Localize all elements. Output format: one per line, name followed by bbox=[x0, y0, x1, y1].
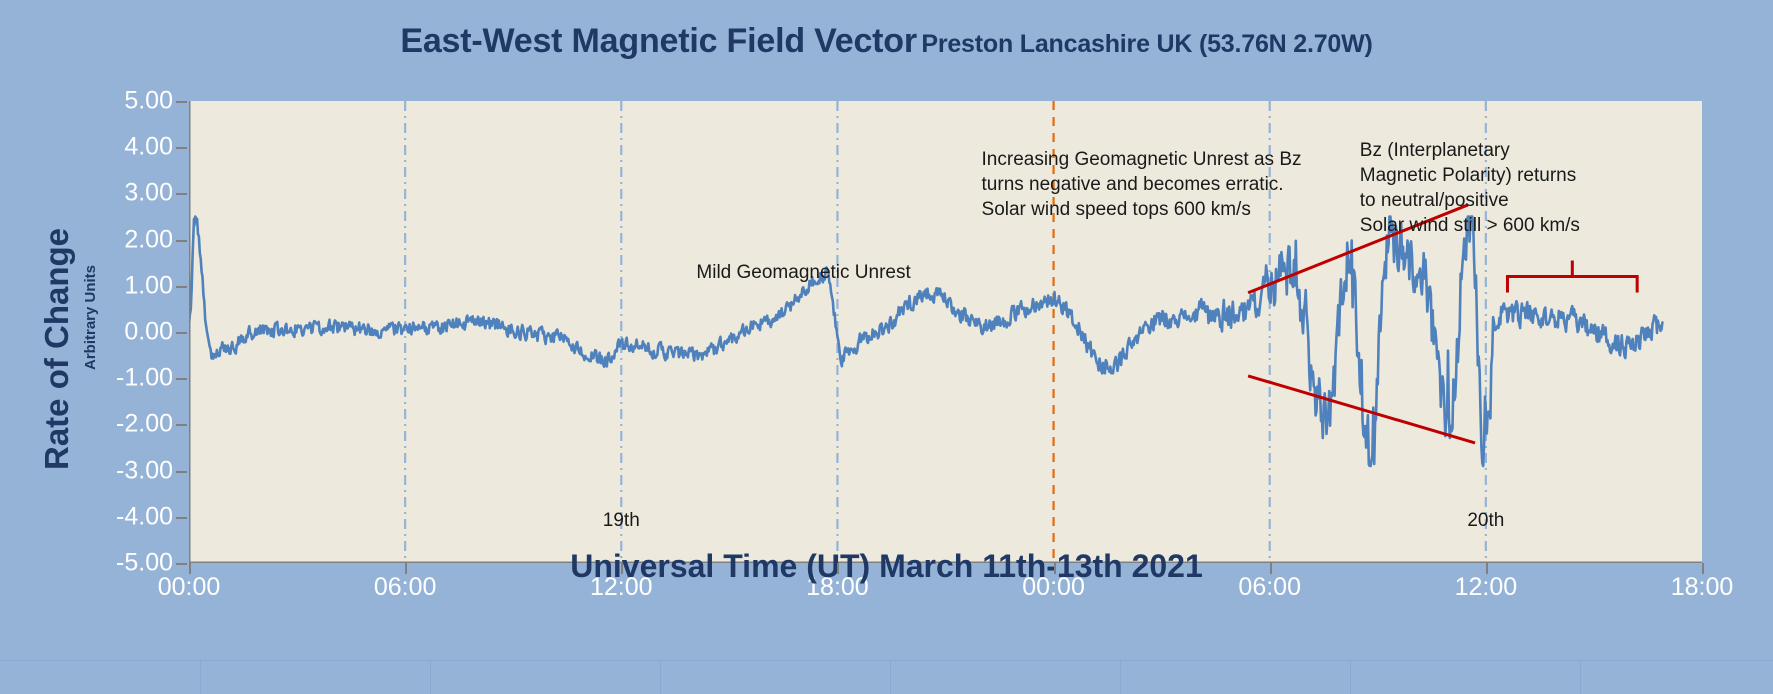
x-axis-tick-mark bbox=[1486, 563, 1488, 574]
worksheet-gridline bbox=[890, 660, 891, 694]
y-axis-tick-mark bbox=[176, 471, 187, 473]
worksheet-gridline bbox=[200, 660, 201, 694]
y-axis-tick-mark bbox=[176, 193, 187, 195]
x-axis-tick-mark bbox=[621, 563, 623, 574]
page-title: East-West Magnetic Field Vector bbox=[400, 22, 917, 60]
y-axis-tick-label: 2.00 bbox=[53, 225, 173, 254]
chart-subtitle: Preston Lancashire UK (53.76N 2.70W) bbox=[921, 30, 1372, 58]
x-axis-tick-mark bbox=[405, 563, 407, 574]
plot-area: Mild Geomagnetic UnrestIncreasing Geomag… bbox=[189, 101, 1702, 563]
chart-title-block: East-West Magnetic Field Vector Preston … bbox=[0, 22, 1773, 61]
x-axis-tick-mark bbox=[189, 563, 191, 574]
y-axis-tick-mark bbox=[176, 563, 187, 565]
y-axis-tick-label: 1.00 bbox=[53, 271, 173, 300]
worksheet-gridline bbox=[1580, 660, 1581, 694]
annotation-mild-unrest: Mild Geomagnetic Unrest bbox=[696, 260, 910, 285]
worksheet-gridline bbox=[430, 660, 431, 694]
y-axis-tick-label: 0.00 bbox=[53, 318, 173, 347]
x-axis-tick-mark bbox=[837, 563, 839, 574]
y-axis-tick-label: -2.00 bbox=[53, 410, 173, 439]
y-axis-tick-mark bbox=[176, 378, 187, 380]
worksheet-gridline bbox=[0, 660, 1773, 661]
annotation-increasing-unrest: Increasing Geomagnetic Unrest as Bz turn… bbox=[982, 147, 1302, 222]
y-axis-tick-mark bbox=[176, 517, 187, 519]
y-axis-tick-label: -3.00 bbox=[53, 456, 173, 485]
y-axis-tick-mark bbox=[176, 424, 187, 426]
y-axis-tick-mark bbox=[176, 101, 187, 103]
y-axis-tick-label: -1.00 bbox=[53, 364, 173, 393]
y-axis-tick-mark bbox=[176, 286, 187, 288]
y-axis-tick-mark bbox=[176, 147, 187, 149]
annotation-day-19: 19th bbox=[603, 510, 640, 532]
annotation-bz-returns: Bz (Interplanetary Magnetic Polarity) re… bbox=[1360, 138, 1580, 238]
y-axis-tick-label: -4.00 bbox=[53, 502, 173, 531]
worksheet-gridline bbox=[1120, 660, 1121, 694]
x-axis-title: Universal Time (UT) March 11th-13th 2021 bbox=[0, 548, 1773, 585]
annotation-day-20: 20th bbox=[1467, 510, 1504, 532]
x-axis-tick-mark bbox=[1702, 563, 1704, 574]
data-series-line bbox=[189, 217, 1662, 467]
x-axis-tick-mark bbox=[1054, 563, 1056, 574]
y-axis-tick-mark bbox=[176, 332, 187, 334]
worksheet-gridline bbox=[660, 660, 661, 694]
y-axis-tick-mark bbox=[176, 240, 187, 242]
y-axis-tick-label: 4.00 bbox=[53, 133, 173, 162]
bracket-calm-bracket bbox=[1507, 261, 1637, 293]
x-axis-tick-mark bbox=[1270, 563, 1272, 574]
y-axis-tick-label: 5.00 bbox=[53, 87, 173, 116]
chart-container: East-West Magnetic Field Vector Preston … bbox=[0, 0, 1773, 694]
y-axis-ticks: 5.004.003.002.001.000.00-1.00-2.00-3.00-… bbox=[45, 101, 173, 563]
y-axis-tick-label: 3.00 bbox=[53, 179, 173, 208]
worksheet-gridline bbox=[1350, 660, 1351, 694]
